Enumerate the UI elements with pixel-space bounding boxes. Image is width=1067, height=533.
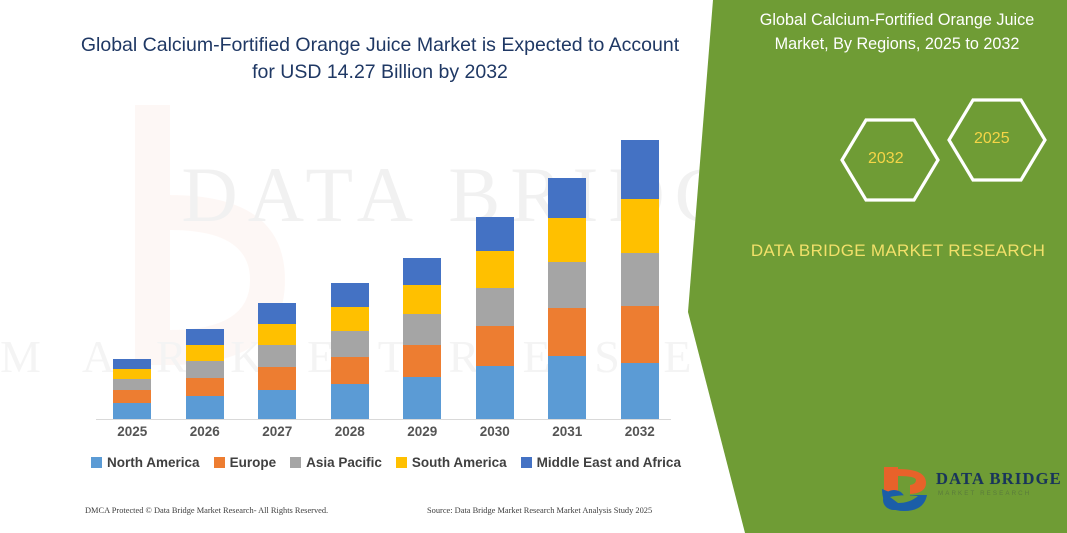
bar-column <box>459 120 532 420</box>
bar-segment <box>403 377 441 420</box>
panel-heading: Global Calcium-Fortified Orange Juice Ma… <box>736 8 1058 56</box>
bar-column <box>314 120 387 420</box>
legend-label: North America <box>107 455 200 470</box>
x-axis-tick-label: 2029 <box>386 424 459 439</box>
bar-segment <box>621 306 659 363</box>
footer-source: Source: Data Bridge Market Research Mark… <box>427 506 652 515</box>
legend-swatch-icon <box>396 457 407 468</box>
bar-segment <box>548 356 586 420</box>
logo-tagline: MARKET RESEARCH <box>938 490 1031 497</box>
legend-item[interactable]: Middle East and Africa <box>521 455 681 470</box>
bar-segment <box>186 361 224 378</box>
hexagon-outlines-icon <box>828 92 1067 207</box>
chart-bars <box>96 120 676 420</box>
bar-segment <box>621 199 659 253</box>
bar-column <box>241 120 314 420</box>
bar-segment <box>476 217 514 251</box>
stacked-bar <box>331 283 369 420</box>
bar-segment <box>331 357 369 384</box>
hexagon-left-label: 2032 <box>868 150 904 168</box>
bar-segment <box>186 378 224 396</box>
bar-segment <box>331 307 369 331</box>
bar-segment <box>548 262 586 308</box>
stacked-bar <box>621 140 659 420</box>
legend-swatch-icon <box>521 457 532 468</box>
bar-segment <box>476 326 514 366</box>
hexagon-right-label: 2025 <box>974 130 1010 148</box>
bar-segment <box>113 369 151 379</box>
bar-segment <box>113 379 151 390</box>
bar-segment <box>403 285 441 314</box>
stacked-bar <box>476 217 514 420</box>
legend-label: South America <box>412 455 507 470</box>
bar-segment <box>476 251 514 288</box>
x-axis-labels: 20252026202720282029203020312032 <box>96 424 676 439</box>
bar-segment <box>548 218 586 262</box>
legend-label: Asia Pacific <box>306 455 382 470</box>
bar-segment <box>258 390 296 420</box>
stacked-bar <box>113 359 151 420</box>
x-axis-line <box>96 419 671 420</box>
legend-swatch-icon <box>91 457 102 468</box>
bar-segment <box>113 403 151 420</box>
bar-segment <box>403 314 441 345</box>
bar-column <box>169 120 242 420</box>
bar-segment <box>113 359 151 369</box>
stacked-bar-chart <box>96 120 676 420</box>
bar-segment <box>476 288 514 326</box>
chart-legend: North AmericaEuropeAsia PacificSouth Ame… <box>96 455 676 470</box>
bar-column <box>531 120 604 420</box>
bar-segment <box>403 345 441 377</box>
bar-column <box>604 120 677 420</box>
bar-segment <box>331 283 369 307</box>
bar-column <box>96 120 169 420</box>
hexagon-group: 2025 2032 <box>828 92 1067 207</box>
bar-segment <box>186 329 224 345</box>
bar-segment <box>258 345 296 367</box>
x-axis-tick-label: 2025 <box>96 424 169 439</box>
x-axis-tick-label: 2026 <box>169 424 242 439</box>
bar-segment <box>548 308 586 356</box>
legend-swatch-icon <box>290 457 301 468</box>
data-bridge-logo: DATA BRIDGE MARKET RESEARCH <box>876 463 1066 515</box>
x-axis-tick-label: 2031 <box>531 424 604 439</box>
bar-segment <box>258 367 296 390</box>
bar-segment <box>476 366 514 420</box>
bar-column <box>386 120 459 420</box>
x-axis-tick-label: 2030 <box>459 424 532 439</box>
legend-label: Europe <box>230 455 277 470</box>
bar-segment <box>621 253 659 306</box>
bar-segment <box>621 140 659 199</box>
bar-segment <box>331 384 369 420</box>
stacked-bar <box>258 303 296 420</box>
stacked-bar <box>403 258 441 420</box>
legend-item[interactable]: South America <box>396 455 507 470</box>
bar-segment <box>403 258 441 285</box>
x-axis-tick-label: 2032 <box>604 424 677 439</box>
stacked-bar <box>548 178 586 420</box>
page-title: Global Calcium-Fortified Orange Juice Ma… <box>70 32 690 86</box>
brand-name: DATA BRIDGE MARKET RESEARCH <box>738 238 1058 263</box>
bar-segment <box>258 324 296 345</box>
legend-swatch-icon <box>214 457 225 468</box>
bar-segment <box>331 331 369 357</box>
bar-segment <box>186 396 224 420</box>
x-axis-tick-label: 2027 <box>241 424 314 439</box>
x-axis-tick-label: 2028 <box>314 424 387 439</box>
green-panel-content: Global Calcium-Fortified Orange Juice Ma… <box>728 0 1067 533</box>
legend-item[interactable]: Asia Pacific <box>290 455 382 470</box>
bar-segment <box>258 303 296 324</box>
bar-segment <box>621 363 659 420</box>
stacked-bar <box>186 329 224 420</box>
bar-segment <box>113 390 151 403</box>
legend-item[interactable]: North America <box>91 455 200 470</box>
logo-wordmark: DATA BRIDGE <box>936 469 1062 489</box>
bar-segment <box>548 178 586 218</box>
infographic-canvas: DATA BRIDGE M A R K E T R E S E A R C H … <box>0 0 1067 533</box>
legend-label: Middle East and Africa <box>537 455 681 470</box>
legend-item[interactable]: Europe <box>214 455 277 470</box>
footer-copyright: DMCA Protected © Data Bridge Market Rese… <box>85 506 328 515</box>
bar-segment <box>186 345 224 361</box>
